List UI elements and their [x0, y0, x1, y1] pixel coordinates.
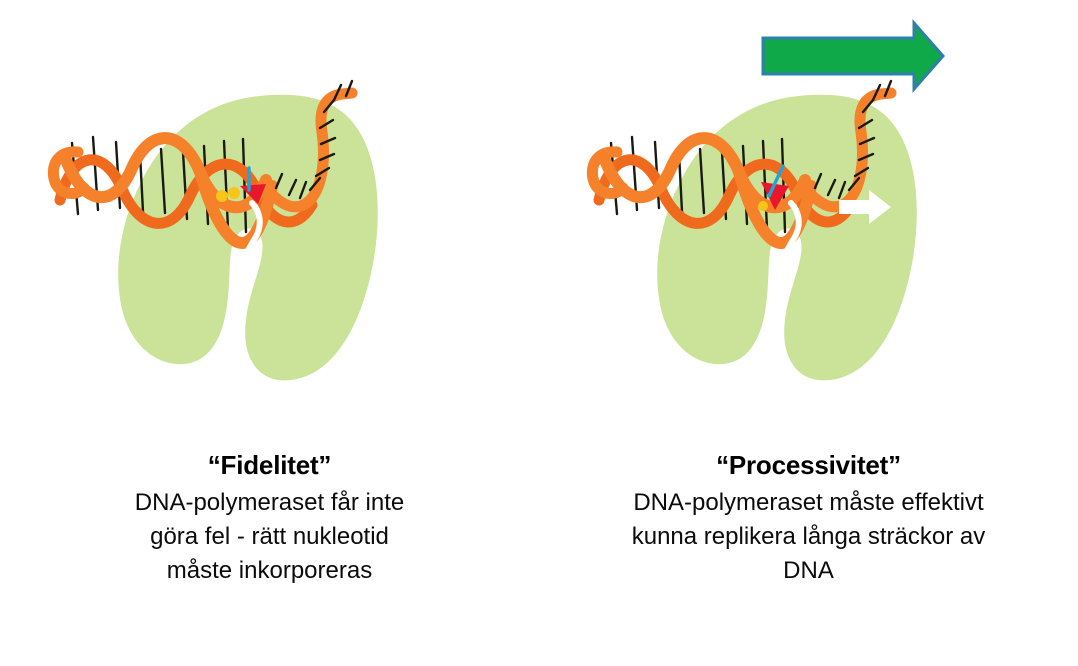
caption-line: göra fel - rätt nukleotid	[26, 520, 513, 554]
caption-line: kunna replikera långa sträckor av	[565, 520, 1052, 554]
nucleotide-yellow-2	[228, 187, 240, 199]
caption-body-fidelity: DNA-polymeraset får inte göra fel - rätt…	[0, 486, 539, 588]
caption-title-fidelity: “Fidelitet”	[0, 448, 539, 482]
direction-arrow-icon	[763, 23, 943, 89]
figure-processivity	[539, 0, 1078, 430]
nucleotide-yellow-1	[758, 201, 768, 211]
caption-line: DNA-polymeraset måste effektivt	[565, 486, 1052, 520]
caption-title-processivity: “Processivitet”	[539, 448, 1078, 482]
caption-processivity: “Processivitet” DNA-polymeraset måste ef…	[539, 448, 1078, 589]
caption-line: DNA	[565, 554, 1052, 588]
caption-body-processivity: DNA-polymeraset måste effektivt kunna re…	[539, 486, 1078, 588]
nucleotide-yellow-1	[216, 190, 228, 202]
panel-fidelity: “Fidelitet” DNA-polymeraset får inte gör…	[0, 0, 539, 666]
caption-line: måste inkorporeras	[26, 554, 513, 588]
slide-root: “Fidelitet” DNA-polymeraset får inte gör…	[0, 0, 1078, 666]
caption-line: DNA-polymeraset får inte	[26, 486, 513, 520]
caption-fidelity: “Fidelitet” DNA-polymeraset får inte gör…	[0, 448, 539, 589]
figure-fidelity	[0, 0, 539, 430]
panel-processivity: “Processivitet” DNA-polymeraset måste ef…	[539, 0, 1078, 666]
